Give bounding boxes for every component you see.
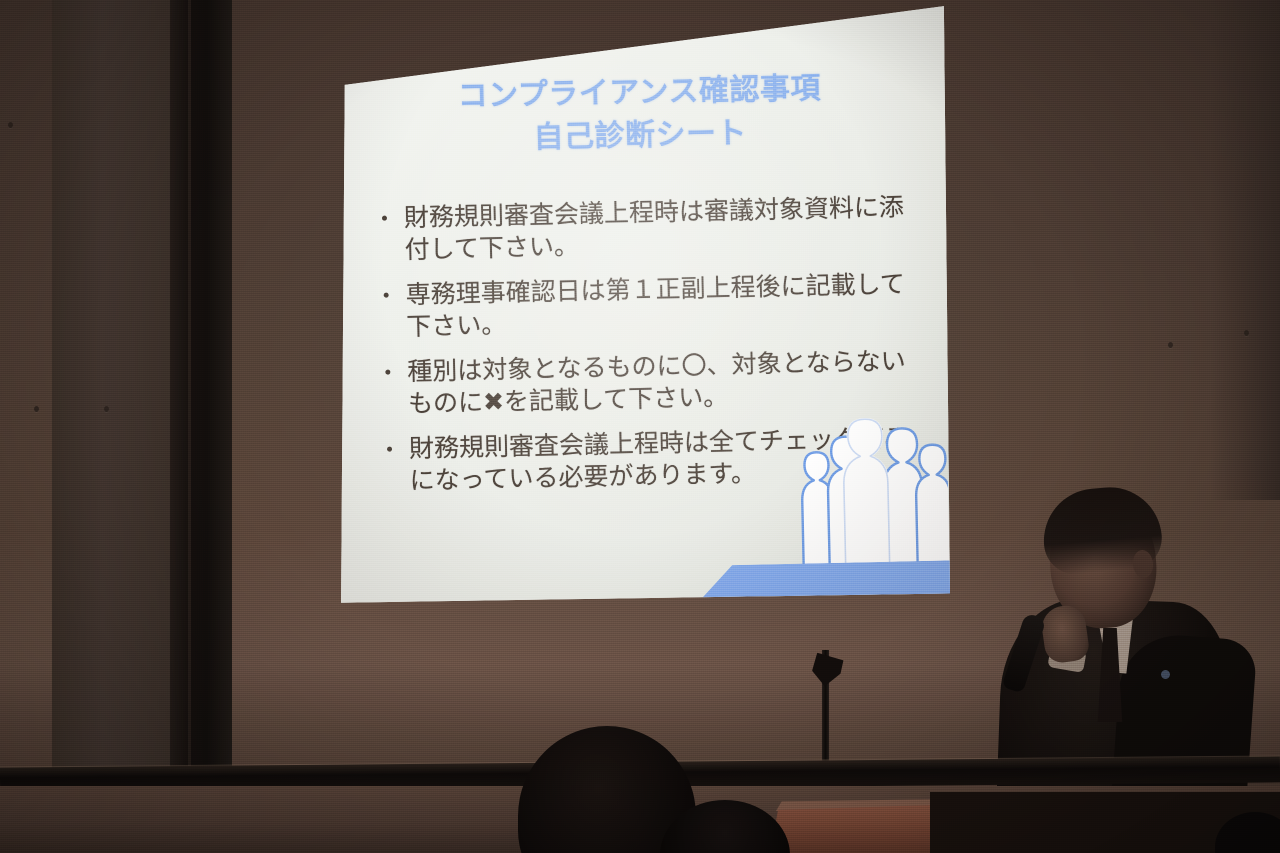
bullet-dot-icon <box>382 216 387 221</box>
photo-scene: コンプライアンス確認事項 自己診断シート 財務規則審査会議上程時は審議対象資料に… <box>0 0 1280 853</box>
slide-content: コンプライアンス確認事項 自己診断シート 財務規則審査会議上程時は審議対象資料に… <box>331 0 956 622</box>
bullet-dot-icon <box>384 293 389 298</box>
bullet-dot-icon <box>387 447 392 452</box>
slide-bullet-text: 財務規則審査会議上程時は審議対象資料に添付して下さい。 <box>404 193 905 264</box>
bullet-dot-icon <box>385 370 390 375</box>
wall-fixture <box>8 122 13 128</box>
slide-bullet-item: 専務理事確認日は第１正副上程後に記載して下さい。 <box>379 268 922 344</box>
curtain <box>170 0 232 780</box>
wall-column <box>52 0 178 770</box>
wall-fixture <box>104 406 109 412</box>
projection-screen: コンプライアンス確認事項 自己診断シート 財務規則審査会議上程時は審議対象資料に… <box>338 0 950 615</box>
wall-shadow-right <box>1210 0 1280 500</box>
wall-fixture <box>1168 342 1173 348</box>
slide-title: コンプライアンス確認事項 自己診断シート <box>333 65 947 164</box>
lapel-pin <box>1161 670 1170 679</box>
wall-fixture <box>34 406 39 412</box>
slide-bullet-item: 財務規則審査会議上程時は審議対象資料に添付して下さい。 <box>378 191 921 267</box>
slide-bullet-text: 専務理事確認日は第１正副上程後に記載して下さい。 <box>405 270 905 341</box>
wall-fixture <box>1244 330 1249 336</box>
